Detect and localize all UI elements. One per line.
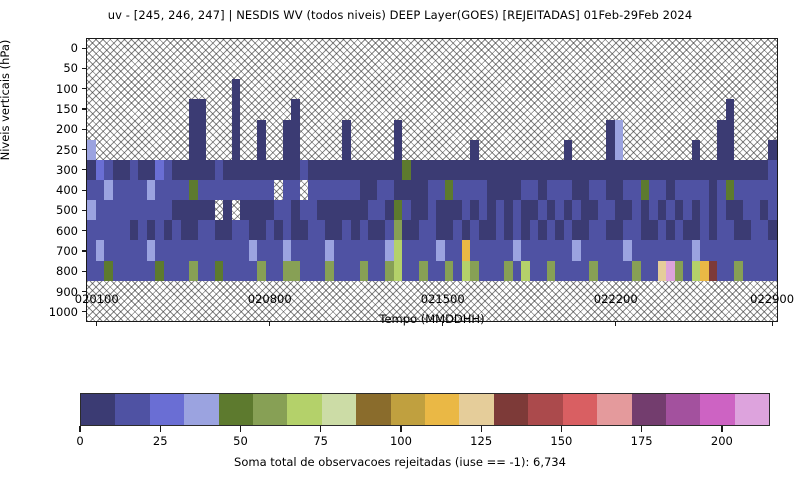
heatmap-row (87, 180, 777, 200)
heatmap-cell (232, 79, 241, 99)
heatmap-cell (615, 140, 624, 160)
heatmap-cell (334, 281, 343, 301)
heatmap-cell (274, 120, 283, 140)
heatmap-cell (360, 120, 369, 140)
heatmap-cell (368, 180, 377, 200)
heatmap-cell (581, 99, 590, 119)
heatmap-cell (436, 120, 445, 140)
heatmap-cell (623, 120, 632, 140)
heatmap-cell (462, 59, 471, 79)
heatmap-cell (223, 240, 232, 260)
heatmap-cell (419, 160, 428, 180)
heatmap-cell (504, 220, 513, 240)
heatmap-cell (521, 200, 530, 220)
heatmap-cell (249, 120, 258, 140)
heatmap-cell (155, 79, 164, 99)
heatmap-cell (649, 79, 658, 99)
heatmap-cell (394, 240, 403, 260)
heatmap-cell (189, 180, 198, 200)
heatmap-cell (555, 261, 564, 281)
heatmap-cell (155, 281, 164, 301)
heatmap-cell (615, 99, 624, 119)
y-tick-label: 150 (10, 102, 78, 116)
y-tick-label: 100 (10, 82, 78, 96)
heatmap-cell (751, 79, 760, 99)
heatmap-cell (692, 261, 701, 281)
heatmap-cell (683, 59, 692, 79)
heatmap-cell (760, 120, 769, 140)
heatmap-cell (411, 180, 420, 200)
heatmap-cell (504, 180, 513, 200)
heatmap-cell (513, 281, 522, 301)
heatmap-cell (649, 180, 658, 200)
heatmap-cell (538, 140, 547, 160)
heatmap-cell (155, 39, 164, 59)
colorbar-swatch (563, 394, 597, 425)
heatmap-cell (504, 99, 513, 119)
heatmap-cell (377, 39, 386, 59)
y-tick-label: 300 (10, 163, 78, 177)
heatmap-cell (155, 240, 164, 260)
heatmap-cell (87, 200, 96, 220)
heatmap-cell (411, 79, 420, 99)
heatmap-cell (181, 240, 190, 260)
heatmap-cell (709, 140, 718, 160)
heatmap-cell (104, 59, 113, 79)
heatmap-cell (726, 160, 735, 180)
heatmap-cell (240, 140, 249, 160)
heatmap-cell (206, 200, 215, 220)
heatmap-cell (240, 99, 249, 119)
heatmap-cell (291, 261, 300, 281)
heatmap-cell (683, 180, 692, 200)
heatmap-cell (760, 79, 769, 99)
heatmap-cell (445, 79, 454, 99)
heatmap-cell (555, 220, 564, 240)
heatmap-cell (351, 160, 360, 180)
colorbar-wrap[interactable]: 0255075100125150175200 (80, 393, 770, 426)
heatmap-cell (658, 140, 667, 160)
heatmap-cell (751, 160, 760, 180)
heatmap-cell (274, 261, 283, 281)
heatmap-cell (385, 59, 394, 79)
heatmap-cell (164, 39, 173, 59)
heatmap-cell (538, 39, 547, 59)
heatmap-cell (615, 261, 624, 281)
heatmap-cell (172, 240, 181, 260)
heatmap-cell (547, 200, 556, 220)
heatmap-cell (564, 180, 573, 200)
heatmap-cell (768, 261, 777, 281)
heatmap-cell (717, 240, 726, 260)
y-tick-label: 600 (10, 224, 78, 238)
heatmap-cell (504, 160, 513, 180)
heatmap-cell (589, 79, 598, 99)
heatmap-cell (96, 220, 105, 240)
heatmap-axes[interactable] (86, 38, 778, 322)
heatmap-cell (334, 120, 343, 140)
heatmap-cell (300, 220, 309, 240)
heatmap-cell (768, 180, 777, 200)
colorbar-swatch (666, 394, 700, 425)
heatmap-cell (768, 79, 777, 99)
heatmap-cell (760, 39, 769, 59)
heatmap-cell (453, 140, 462, 160)
heatmap-cell (257, 240, 266, 260)
heatmap-cell (377, 140, 386, 160)
heatmap-cell (734, 160, 743, 180)
heatmap-cell (547, 180, 556, 200)
heatmap-cell (411, 200, 420, 220)
heatmap-cell (598, 39, 607, 59)
heatmap-cell (419, 79, 428, 99)
heatmap-cell (521, 59, 530, 79)
heatmap-cell (692, 59, 701, 79)
heatmap-cell (198, 99, 207, 119)
y-tick-label: 200 (10, 122, 78, 136)
heatmap-cell (504, 79, 513, 99)
heatmap-cell (623, 79, 632, 99)
heatmap-cell (147, 261, 156, 281)
heatmap-cell (709, 160, 718, 180)
heatmap-cell (402, 160, 411, 180)
heatmap-cell (300, 59, 309, 79)
heatmap-cell (283, 140, 292, 160)
heatmap-cell (291, 160, 300, 180)
heatmap-cell (649, 160, 658, 180)
heatmap-cell (223, 160, 232, 180)
heatmap-cell (760, 200, 769, 220)
heatmap-cell (189, 120, 198, 140)
heatmap-cell (751, 140, 760, 160)
y-tick-label: 900 (10, 285, 78, 299)
heatmap-cell (641, 240, 650, 260)
heatmap-cell (138, 281, 147, 301)
heatmap-cell (155, 59, 164, 79)
heatmap-cell (700, 240, 709, 260)
heatmap-cell (215, 99, 224, 119)
heatmap-cell (428, 59, 437, 79)
heatmap-cell (683, 140, 692, 160)
heatmap-cell (547, 99, 556, 119)
colorbar-tick-mark (160, 426, 161, 432)
heatmap-cell (130, 261, 139, 281)
heatmap-cell (589, 261, 598, 281)
heatmap-cell (530, 220, 539, 240)
heatmap-cell (726, 180, 735, 200)
heatmap-cell (581, 120, 590, 140)
heatmap-cell (709, 59, 718, 79)
heatmap-cell (240, 240, 249, 260)
heatmap-cell (632, 79, 641, 99)
heatmap-cell (692, 200, 701, 220)
heatmap-cell (308, 200, 317, 220)
heatmap-cell (709, 180, 718, 200)
heatmap-cell (113, 180, 122, 200)
heatmap-cell (521, 79, 530, 99)
heatmap-cell (360, 200, 369, 220)
heatmap-cell (377, 240, 386, 260)
heatmap-cell (538, 160, 547, 180)
heatmap-cell (470, 220, 479, 240)
heatmap-cell (385, 140, 394, 160)
heatmap-cell (189, 59, 198, 79)
heatmap-cell (470, 79, 479, 99)
heatmap-cell (181, 99, 190, 119)
heatmap-cell (172, 220, 181, 240)
heatmap-cell (760, 99, 769, 119)
heatmap-cell (436, 59, 445, 79)
colorbar-tick-label: 100 (390, 434, 412, 448)
heatmap-cell (351, 281, 360, 301)
heatmap-cell (632, 120, 641, 140)
heatmap-cell (496, 120, 505, 140)
heatmap-cell (377, 180, 386, 200)
heatmap-cell (198, 59, 207, 79)
heatmap-cell (121, 79, 130, 99)
heatmap-cell (300, 120, 309, 140)
heatmap-cell (232, 39, 241, 59)
heatmap-cell (632, 261, 641, 281)
heatmap-cell (223, 200, 232, 220)
heatmap-cell (453, 79, 462, 99)
heatmap-cell (530, 59, 539, 79)
heatmap-cell (470, 99, 479, 119)
heatmap-cell (606, 160, 615, 180)
heatmap-cell (394, 180, 403, 200)
colorbar-tick-mark (721, 426, 722, 432)
heatmap-cell (368, 140, 377, 160)
heatmap-cell (104, 200, 113, 220)
heatmap-cell (342, 220, 351, 240)
colorbar-tick-label: 75 (313, 434, 328, 448)
heatmap-cell (470, 200, 479, 220)
colorbar-tick-label: 50 (233, 434, 248, 448)
heatmap-cell (206, 59, 215, 79)
heatmap-cell (734, 120, 743, 140)
heatmap-cell (521, 140, 530, 160)
heatmap-cell (215, 240, 224, 260)
heatmap-cell (147, 220, 156, 240)
heatmap-cell (683, 220, 692, 240)
heatmap-cell (538, 281, 547, 301)
heatmap-cell (496, 160, 505, 180)
heatmap-cell (530, 120, 539, 140)
heatmap-cell (598, 261, 607, 281)
heatmap-cell (521, 99, 530, 119)
heatmap-cell (308, 180, 317, 200)
heatmap-cell (641, 261, 650, 281)
heatmap-cell (138, 160, 147, 180)
heatmap-cell (555, 140, 564, 160)
heatmap-cell (155, 200, 164, 220)
heatmap-cell (462, 240, 471, 260)
heatmap-cell (360, 59, 369, 79)
heatmap-cell (317, 240, 326, 260)
heatmap-cell (462, 200, 471, 220)
heatmap-cell (130, 160, 139, 180)
heatmap-cell (547, 140, 556, 160)
colorbar-tick-label: 125 (470, 434, 492, 448)
heatmap-cell (564, 220, 573, 240)
heatmap-cell (198, 281, 207, 301)
heatmap-cell (113, 140, 122, 160)
heatmap-cell (623, 39, 632, 59)
heatmap-cell (445, 180, 454, 200)
heatmap-cell (692, 240, 701, 260)
heatmap-cell (538, 261, 547, 281)
heatmap-cell (121, 281, 130, 301)
heatmap-cell (683, 99, 692, 119)
heatmap-cell (734, 261, 743, 281)
heatmap-cell (581, 200, 590, 220)
colorbar-swatch (322, 394, 356, 425)
heatmap-cell (351, 99, 360, 119)
heatmap-cell (394, 79, 403, 99)
heatmap-cell (164, 120, 173, 140)
heatmap-cell (308, 140, 317, 160)
heatmap-cell (317, 180, 326, 200)
heatmap-cell (547, 220, 556, 240)
heatmap-cell (164, 59, 173, 79)
heatmap-cell (138, 200, 147, 220)
heatmap-cell (666, 39, 675, 59)
heatmap-cell (342, 39, 351, 59)
heatmap-cell (436, 180, 445, 200)
heatmap-cell (658, 240, 667, 260)
heatmap-row (87, 240, 777, 260)
heatmap-cell (572, 281, 581, 301)
colorbar-label: Soma total de observacoes rejeitadas (iu… (0, 455, 800, 469)
heatmap-cell (411, 140, 420, 160)
heatmap-cell (411, 120, 420, 140)
heatmap-cell (130, 39, 139, 59)
heatmap-cell (470, 140, 479, 160)
heatmap-cell (470, 180, 479, 200)
heatmap-cell (368, 160, 377, 180)
heatmap-cell (606, 200, 615, 220)
colorbar-swatch (391, 394, 425, 425)
heatmap-cell (513, 220, 522, 240)
heatmap-cell (215, 140, 224, 160)
heatmap-cell (411, 220, 420, 240)
heatmap-cell (734, 140, 743, 160)
heatmap-cell (666, 220, 675, 240)
heatmap-cell (274, 99, 283, 119)
heatmap-cell (394, 59, 403, 79)
heatmap-cell (717, 281, 726, 301)
heatmap-cell (513, 99, 522, 119)
heatmap-cell (198, 120, 207, 140)
heatmap-cell (121, 120, 130, 140)
colorbar[interactable] (80, 393, 770, 426)
heatmap-cell (87, 99, 96, 119)
heatmap-cell (317, 261, 326, 281)
heatmap-cell (615, 240, 624, 260)
heatmap-cell (121, 140, 130, 160)
heatmap-cell (513, 240, 522, 260)
y-tick-label: 1000 (10, 305, 78, 319)
colorbar-swatch (494, 394, 528, 425)
heatmap-cell (649, 261, 658, 281)
heatmap-cell (189, 281, 198, 301)
colorbar-tick-mark (240, 426, 241, 432)
heatmap-cell (206, 160, 215, 180)
heatmap-cell (266, 180, 275, 200)
heatmap-cell (496, 99, 505, 119)
heatmap-cell (709, 281, 718, 301)
heatmap-cell (726, 59, 735, 79)
heatmap-cell (360, 220, 369, 240)
heatmap-cell (632, 59, 641, 79)
heatmap-cell (487, 240, 496, 260)
heatmap-cell (147, 120, 156, 140)
colorbar-tick-label: 200 (711, 434, 733, 448)
heatmap-cell (692, 99, 701, 119)
heatmap-cell (249, 220, 258, 240)
heatmap-cell (538, 79, 547, 99)
heatmap-cell (615, 39, 624, 59)
heatmap-cell (325, 59, 334, 79)
heatmap-cell (334, 79, 343, 99)
heatmap-cell (257, 39, 266, 59)
heatmap-cell (317, 160, 326, 180)
heatmap-cell (385, 200, 394, 220)
heatmap-grid (87, 39, 777, 321)
heatmap-cell (641, 59, 650, 79)
heatmap-cell (717, 180, 726, 200)
heatmap-cell (538, 180, 547, 200)
heatmap-cell (368, 79, 377, 99)
heatmap-cell (419, 39, 428, 59)
heatmap-cell (308, 261, 317, 281)
heatmap-cell (530, 180, 539, 200)
heatmap-cell (266, 261, 275, 281)
heatmap-cell (445, 200, 454, 220)
heatmap-cell (623, 180, 632, 200)
heatmap-cell (717, 261, 726, 281)
heatmap-cell (138, 261, 147, 281)
heatmap-cell (164, 200, 173, 220)
x-tick-label: 020100 (75, 292, 119, 306)
heatmap-cell (138, 240, 147, 260)
heatmap-cell (572, 39, 581, 59)
heatmap-cell (411, 240, 420, 260)
heatmap-cell (589, 160, 598, 180)
heatmap-cell (496, 240, 505, 260)
heatmap-cell (223, 59, 232, 79)
heatmap-cell (87, 39, 96, 59)
heatmap-cell (394, 160, 403, 180)
heatmap-cell (300, 200, 309, 220)
heatmap-cell (470, 39, 479, 59)
heatmap-cell (649, 99, 658, 119)
heatmap-cell (487, 261, 496, 281)
heatmap-cell (700, 39, 709, 59)
heatmap-cell (342, 200, 351, 220)
heatmap-cell (760, 220, 769, 240)
heatmap-cell (683, 261, 692, 281)
heatmap-cell (308, 79, 317, 99)
heatmap-cell (700, 180, 709, 200)
heatmap-cell (206, 261, 215, 281)
colorbar-swatch (700, 394, 734, 425)
heatmap-cell (445, 240, 454, 260)
heatmap-cell (113, 59, 122, 79)
heatmap-cell (164, 281, 173, 301)
heatmap-cell (189, 99, 198, 119)
heatmap-cell (130, 220, 139, 240)
